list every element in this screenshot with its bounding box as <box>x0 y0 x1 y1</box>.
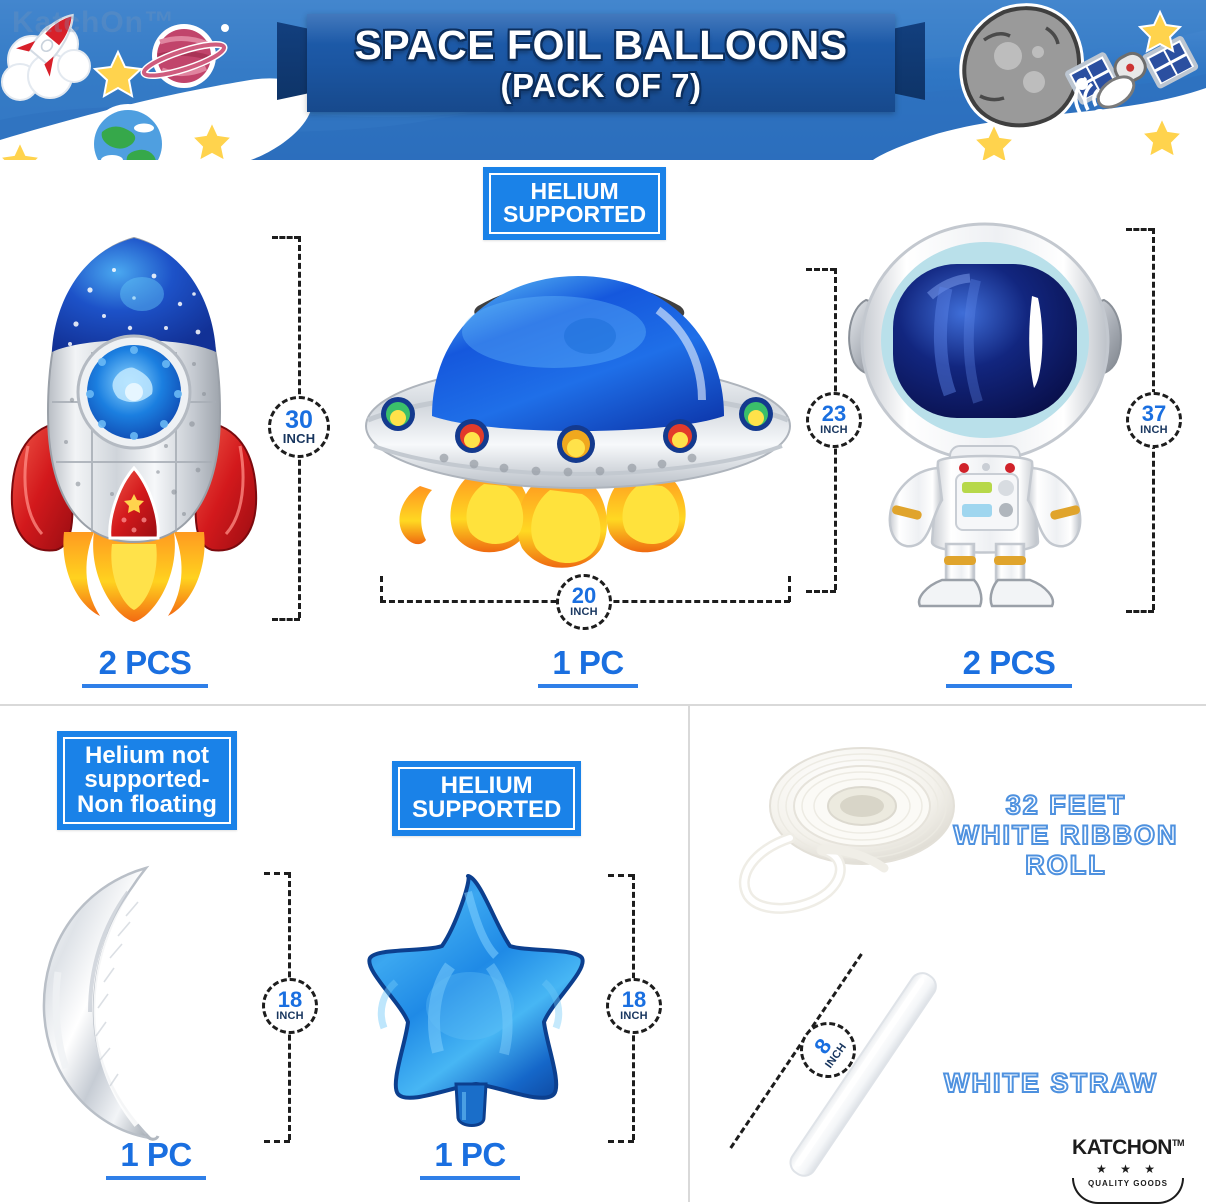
rocket-dim-cap-top <box>272 236 300 239</box>
logo-brand-text: KATCHONTM <box>1064 1133 1192 1158</box>
star-balloon-image <box>338 870 598 1140</box>
dimension-value: 23 <box>822 403 846 424</box>
watermark-text: KatchOn™ <box>12 6 175 40</box>
helium-supported-badge-ufo: HELIUM SUPPORTED <box>483 167 666 240</box>
rocket-quantity-label: 2 PCS <box>82 644 208 688</box>
rocket-dimension-callout: 30 INCH <box>268 396 330 458</box>
badge-label: HELIUM SUPPORTED <box>503 180 646 227</box>
logo-stars: ★ ★ ★ <box>1064 1163 1192 1175</box>
dimension-value: 37 <box>1142 403 1166 424</box>
quantity-text: 1 PC <box>420 1136 520 1174</box>
quantity-text: 1 PC <box>106 1136 206 1174</box>
star-dim-cap-bottom <box>608 1140 634 1143</box>
rocket-balloon-image <box>8 232 260 622</box>
ufo-width-callout: 20 INCH <box>556 574 612 630</box>
ribbon-label-line1: 32 FEET <box>930 790 1202 820</box>
ribbon-label-line2: WHITE RIBBON <box>930 820 1202 850</box>
section-divider-horizontal <box>0 704 1206 706</box>
dimension-value: 18 <box>622 989 646 1010</box>
star-dim-cap-top <box>608 874 634 877</box>
satellite-icon <box>1066 18 1196 123</box>
dimension-value: 30 <box>285 409 313 432</box>
dimension-unit: INCH <box>283 432 316 445</box>
dimension-value: 18 <box>278 989 302 1010</box>
space-art-right <box>946 0 1206 160</box>
ufo-dim-cap-top <box>806 268 836 271</box>
moon-dim-cap-top <box>264 872 290 875</box>
page-title: SPACE FOIL BALLOONS <box>354 23 847 67</box>
dimension-unit: INCH <box>276 1010 304 1023</box>
star-dimension-callout: 18 INCH <box>606 978 662 1034</box>
ufo-dim-cap-left <box>380 576 383 602</box>
ufo-quantity-label: 1 PC <box>538 644 638 688</box>
astronaut-quantity-label: 2 PCS <box>946 644 1072 688</box>
moon-quantity-label: 1 PC <box>106 1136 206 1180</box>
moon-dim-cap-bottom <box>264 1140 290 1143</box>
moon-balloon-image <box>42 862 262 1142</box>
helium-not-supported-badge-moon: Helium not supported- Non floating <box>57 731 237 830</box>
quantity-text: 2 PCS <box>946 644 1072 682</box>
rocket-dim-cap-bottom <box>272 618 300 621</box>
astronaut-dimension-callout: 37 INCH <box>1126 392 1182 448</box>
dimension-unit: INCH <box>570 606 598 619</box>
ufo-balloon-image <box>358 258 798 588</box>
ribbon-roll-label: 32 FEET WHITE RIBBON ROLL <box>930 790 1202 881</box>
header-banner: KatchOn™ SPACE FOIL BALLOONS (PACK OF 7) <box>0 0 1206 160</box>
astronaut-dim-cap-top <box>1126 228 1154 231</box>
planet-earth-icon <box>88 104 168 160</box>
logo-tm-mark: TM <box>1172 1138 1184 1148</box>
ufo-dim-cap-bottom <box>806 590 836 593</box>
dimension-unit: INCH <box>620 1010 648 1023</box>
helium-supported-badge-star: HELIUM SUPPORTED <box>392 761 581 836</box>
logo-tagline: QUALITY GOODS <box>1064 1179 1192 1188</box>
dimension-value: 20 <box>572 585 596 606</box>
page-subtitle: (PACK OF 7) <box>500 67 701 105</box>
asteroid-icon <box>964 8 1079 125</box>
moon-dimension-callout: 18 INCH <box>262 978 318 1034</box>
ufo-height-callout: 23 INCH <box>806 392 862 448</box>
straw-label: WHITE STRAW <box>926 1068 1176 1098</box>
section-divider-vertical <box>688 706 690 1202</box>
astronaut-dim-cap-bottom <box>1126 610 1154 613</box>
dimension-unit: INCH <box>1140 424 1168 437</box>
infographic-canvas: KatchOn™ SPACE FOIL BALLOONS (PACK OF 7)… <box>0 0 1206 1202</box>
dimension-unit: INCH <box>820 424 848 437</box>
ufo-dim-cap-right <box>788 576 791 602</box>
quantity-text: 1 PC <box>538 644 638 682</box>
star-quantity-label: 1 PC <box>420 1136 520 1180</box>
ribbon-label-line3: ROLL <box>930 850 1202 880</box>
badge-label: HELIUM SUPPORTED <box>412 774 561 823</box>
brand-logo: KATCHONTM ★ ★ ★ QUALITY GOODS <box>1064 1133 1192 1192</box>
quantity-text: 2 PCS <box>82 644 208 682</box>
straw-label-text: WHITE STRAW <box>926 1068 1176 1098</box>
astronaut-balloon-image <box>846 212 1124 612</box>
badge-label: Helium not supported- Non floating <box>77 744 217 817</box>
